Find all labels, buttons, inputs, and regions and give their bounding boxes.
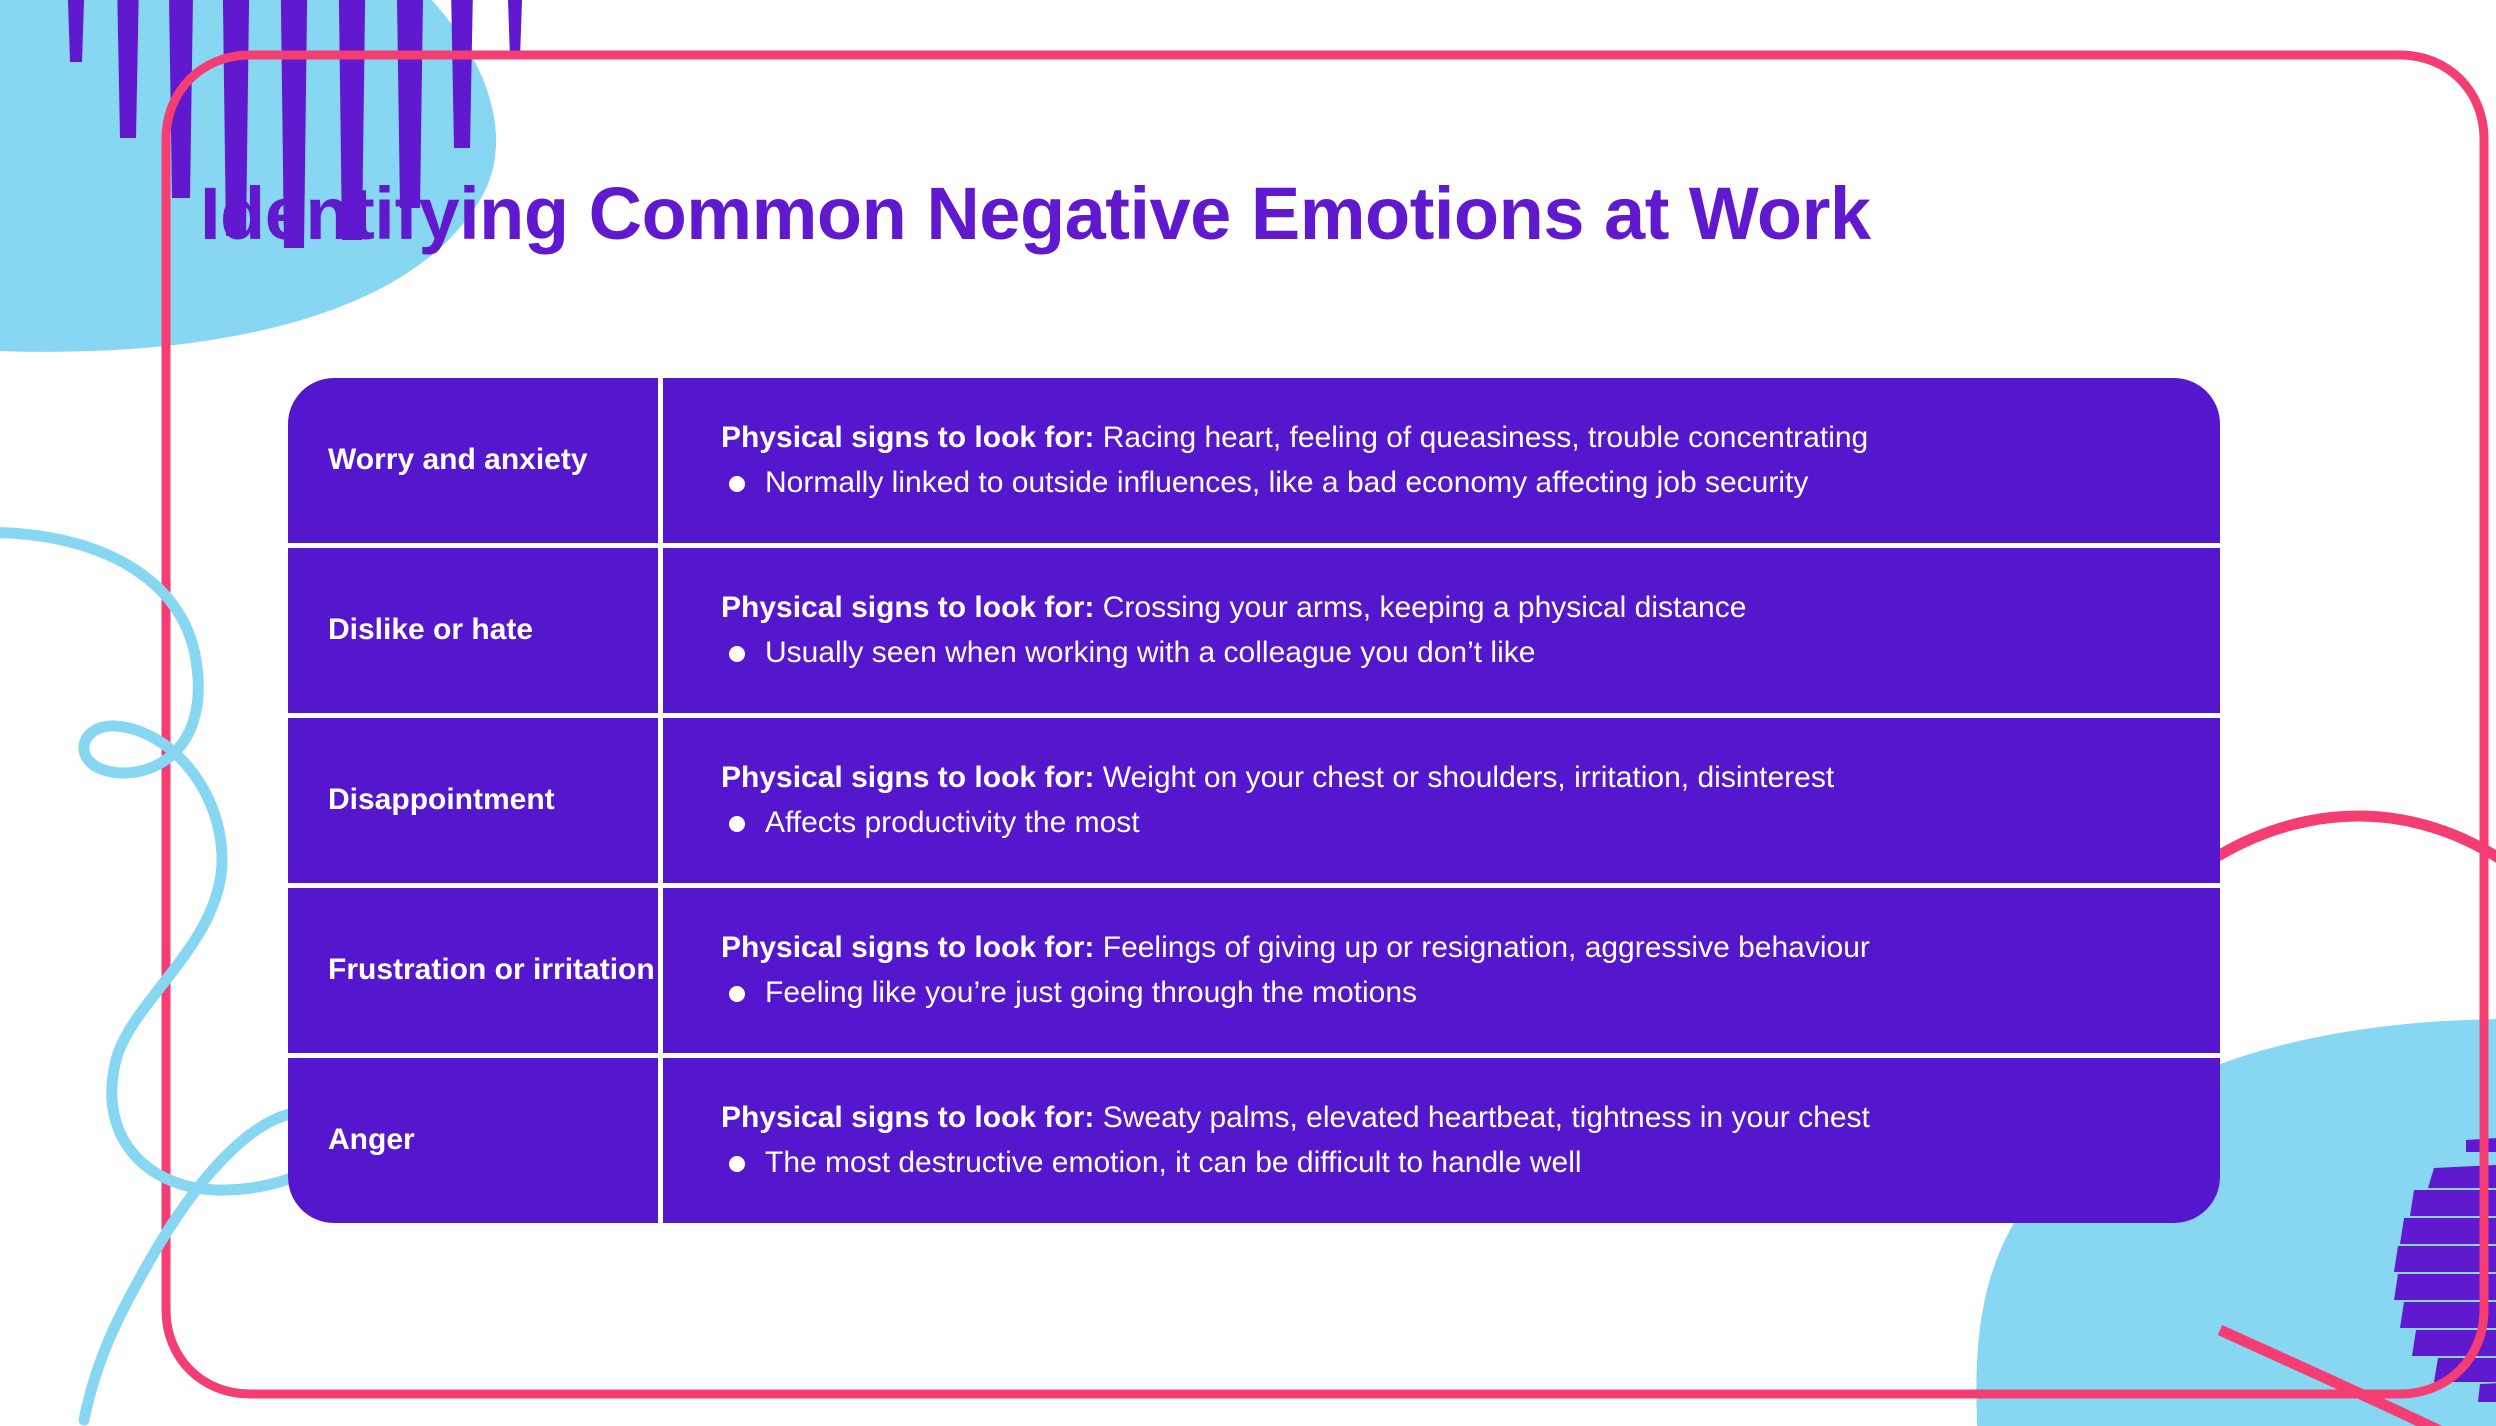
physical-signs-text: Feelings of giving up or resignation, ag…	[1094, 931, 1869, 964]
physical-signs-label: Physical signs to look for:	[721, 931, 1094, 964]
bullet-dot-icon	[729, 816, 745, 832]
physical-signs-text: Racing heart, feeling of queasiness, tro…	[1094, 421, 1868, 454]
physical-signs-line: Physical signs to look for: Feelings of …	[721, 928, 2180, 968]
emotions-table: Worry and anxiety Physical signs to look…	[288, 378, 2220, 1223]
physical-signs-line: Physical signs to look for: Sweaty palms…	[721, 1098, 2180, 1138]
emotion-label-cell: Disappointment	[288, 718, 658, 883]
physical-signs-line: Physical signs to look for: Racing heart…	[721, 418, 2180, 458]
bullet-text: Usually seen when working with a colleag…	[765, 633, 1535, 673]
bullet-line: The most destructive emotion, it can be …	[721, 1143, 2180, 1183]
bullet-text: Affects productivity the most	[765, 803, 1140, 843]
bullet-line: Normally linked to outside influences, l…	[721, 463, 2180, 503]
emotion-label-cell: Frustration or irritation	[288, 888, 658, 1053]
physical-signs-line: Physical signs to look for: Weight on yo…	[721, 758, 2180, 798]
table-row: Dislike or hate Physical signs to look f…	[288, 548, 2220, 713]
emotion-detail-cell: Physical signs to look for: Racing heart…	[663, 378, 2220, 543]
pink-arc-right	[2218, 816, 2496, 930]
table-row: Anger Physical signs to look for: Sweaty…	[288, 1058, 2220, 1223]
table-row: Worry and anxiety Physical signs to look…	[288, 378, 2220, 543]
physical-signs-label: Physical signs to look for:	[721, 761, 1094, 794]
bullet-text: The most destructive emotion, it can be …	[765, 1143, 1582, 1183]
emotion-label-cell: Worry and anxiety	[288, 378, 658, 543]
slide-canvas: Identifying Common Negative Emotions at …	[0, 0, 2496, 1426]
table-row: Frustration or irritation Physical signs…	[288, 888, 2220, 1053]
physical-signs-text: Sweaty palms, elevated heartbeat, tightn…	[1094, 1101, 1869, 1134]
bullet-text: Normally linked to outside influences, l…	[765, 463, 1808, 503]
physical-signs-text: Crossing your arms, keeping a physical d…	[1094, 591, 1746, 624]
bullet-line: Affects productivity the most	[721, 803, 2180, 843]
emotion-name: Frustration or irritation	[328, 951, 655, 989]
physical-signs-label: Physical signs to look for:	[721, 421, 1094, 454]
bullet-dot-icon	[729, 986, 745, 1002]
emotion-name: Worry and anxiety	[328, 441, 588, 479]
emotion-detail-cell: Physical signs to look for: Feelings of …	[663, 888, 2220, 1053]
emotion-name: Dislike or hate	[328, 611, 533, 649]
emotion-detail-cell: Physical signs to look for: Crossing you…	[663, 548, 2220, 713]
emotion-name: Disappointment	[328, 781, 555, 819]
emotion-detail-cell: Physical signs to look for: Weight on yo…	[663, 718, 2220, 883]
table-row: Disappointment Physical signs to look fo…	[288, 718, 2220, 883]
physical-signs-label: Physical signs to look for:	[721, 591, 1094, 624]
emotion-name: Anger	[328, 1121, 415, 1159]
emotion-detail-cell: Physical signs to look for: Sweaty palms…	[663, 1058, 2220, 1223]
bullet-line: Feeling like you’re just going through t…	[721, 973, 2180, 1013]
bullet-text: Feeling like you’re just going through t…	[765, 973, 1417, 1013]
bullet-dot-icon	[729, 646, 745, 662]
bullet-dot-icon	[729, 1156, 745, 1172]
physical-signs-text: Weight on your chest or shoulders, irrit…	[1094, 761, 1834, 794]
bottom-right-purple-stripes	[2394, 1134, 2496, 1402]
emotion-label-cell: Dislike or hate	[288, 548, 658, 713]
pink-diagonal-right	[2220, 1330, 2496, 1426]
page-title: Identifying Common Negative Emotions at …	[200, 175, 2300, 253]
emotion-label-cell: Anger	[288, 1058, 658, 1223]
bullet-dot-icon	[729, 476, 745, 492]
physical-signs-label: Physical signs to look for:	[721, 1101, 1094, 1134]
bullet-line: Usually seen when working with a colleag…	[721, 633, 2180, 673]
physical-signs-line: Physical signs to look for: Crossing you…	[721, 588, 2180, 628]
